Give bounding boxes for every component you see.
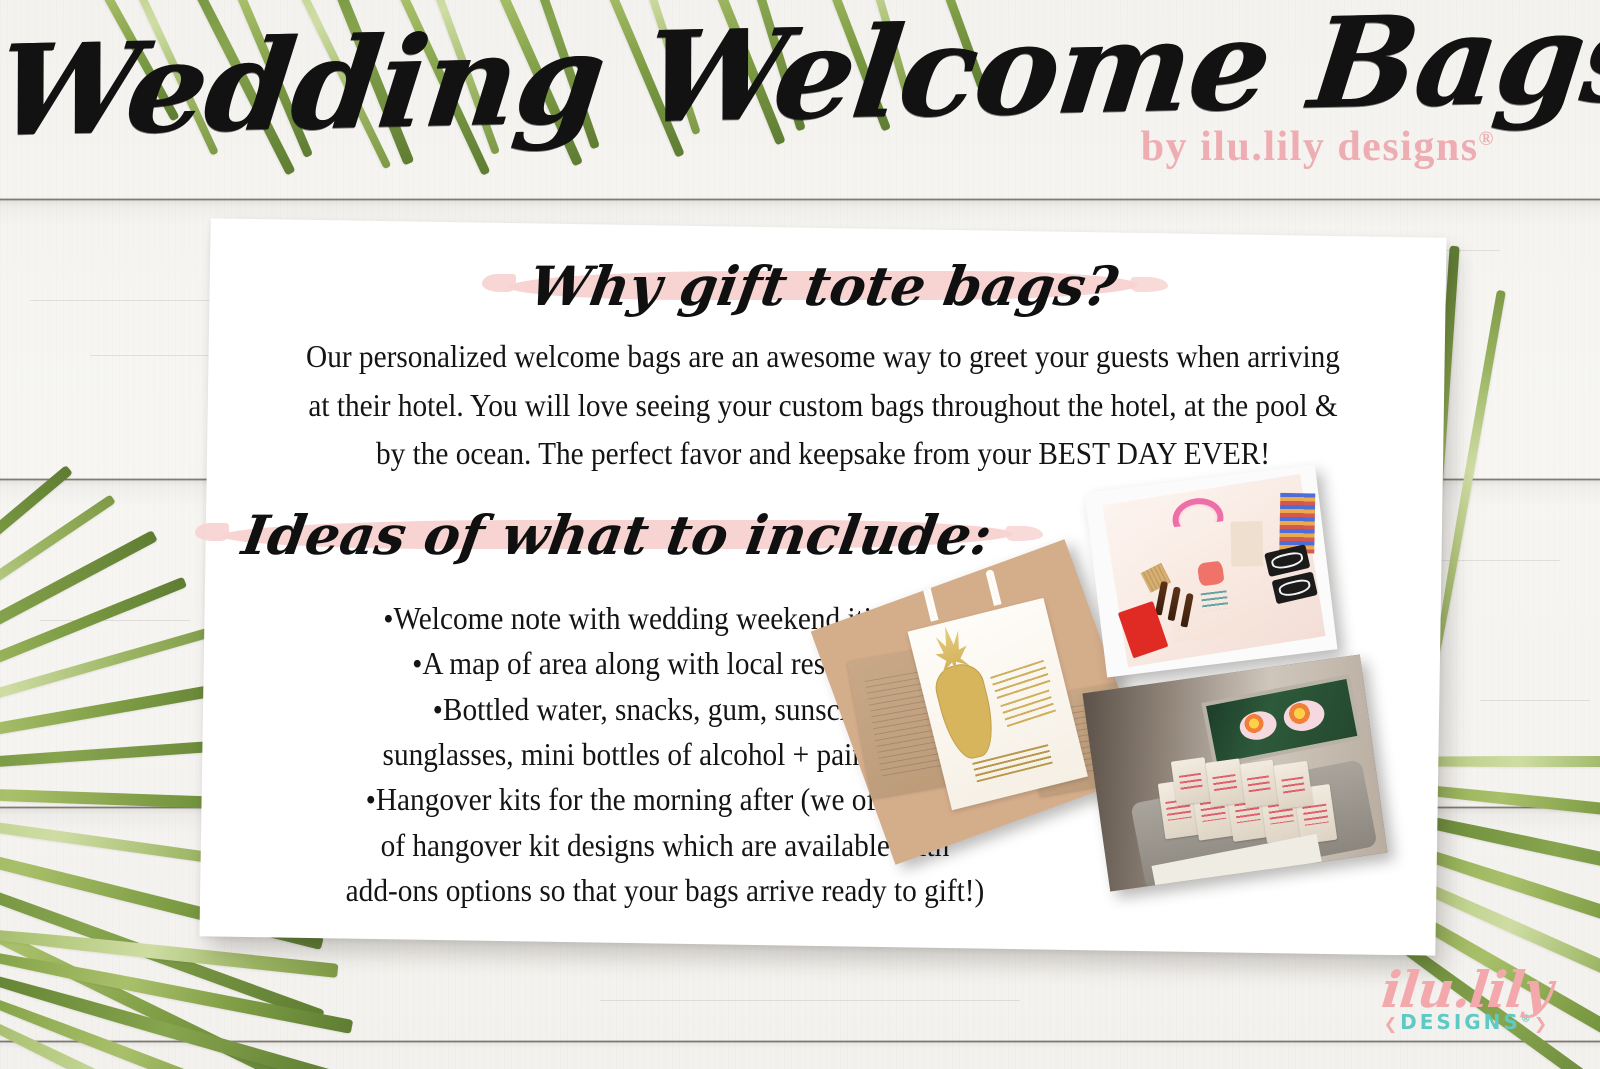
colorful-cards: [1280, 493, 1316, 553]
usa-map-graphic: [1197, 560, 1225, 586]
intro-paragraph: Our personalized welcome bags are an awe…: [293, 333, 1353, 479]
welcome-bag: [1274, 761, 1313, 809]
list-item: add-ons options so that your bags arrive…: [247, 868, 1084, 913]
section-heading-why-text: Why gift tote bags?: [524, 254, 1121, 318]
content-card: Why gift tote bags? Our personalized wel…: [199, 218, 1446, 955]
tote-script-names: [1201, 590, 1229, 611]
wood-grain: [30, 300, 230, 301]
photo-welcome-bag-flatlay: [1085, 465, 1338, 678]
section-heading-ideas: Ideas of what to include:: [243, 503, 991, 567]
welcome-bag: [1205, 758, 1244, 806]
welcome-tag: [1231, 521, 1264, 566]
section-heading-why: Why gift tote bags?: [205, 254, 1441, 318]
palm-frond-top-left: [0, 0, 680, 250]
brand-logo: ilu.lily ❮DESIGNS®❯: [1362, 966, 1572, 1061]
poster-canvas: Wedding Welcome Bags by ilu.lily designs…: [0, 0, 1600, 1069]
photo-bags-on-couch: [1082, 654, 1387, 891]
wood-grain: [600, 1000, 1020, 1001]
pineapple-graphic: [930, 659, 1001, 763]
brand-logo-script: ilu.lily: [1360, 966, 1575, 1014]
section-heading-ideas-text: Ideas of what to include:: [238, 503, 996, 567]
